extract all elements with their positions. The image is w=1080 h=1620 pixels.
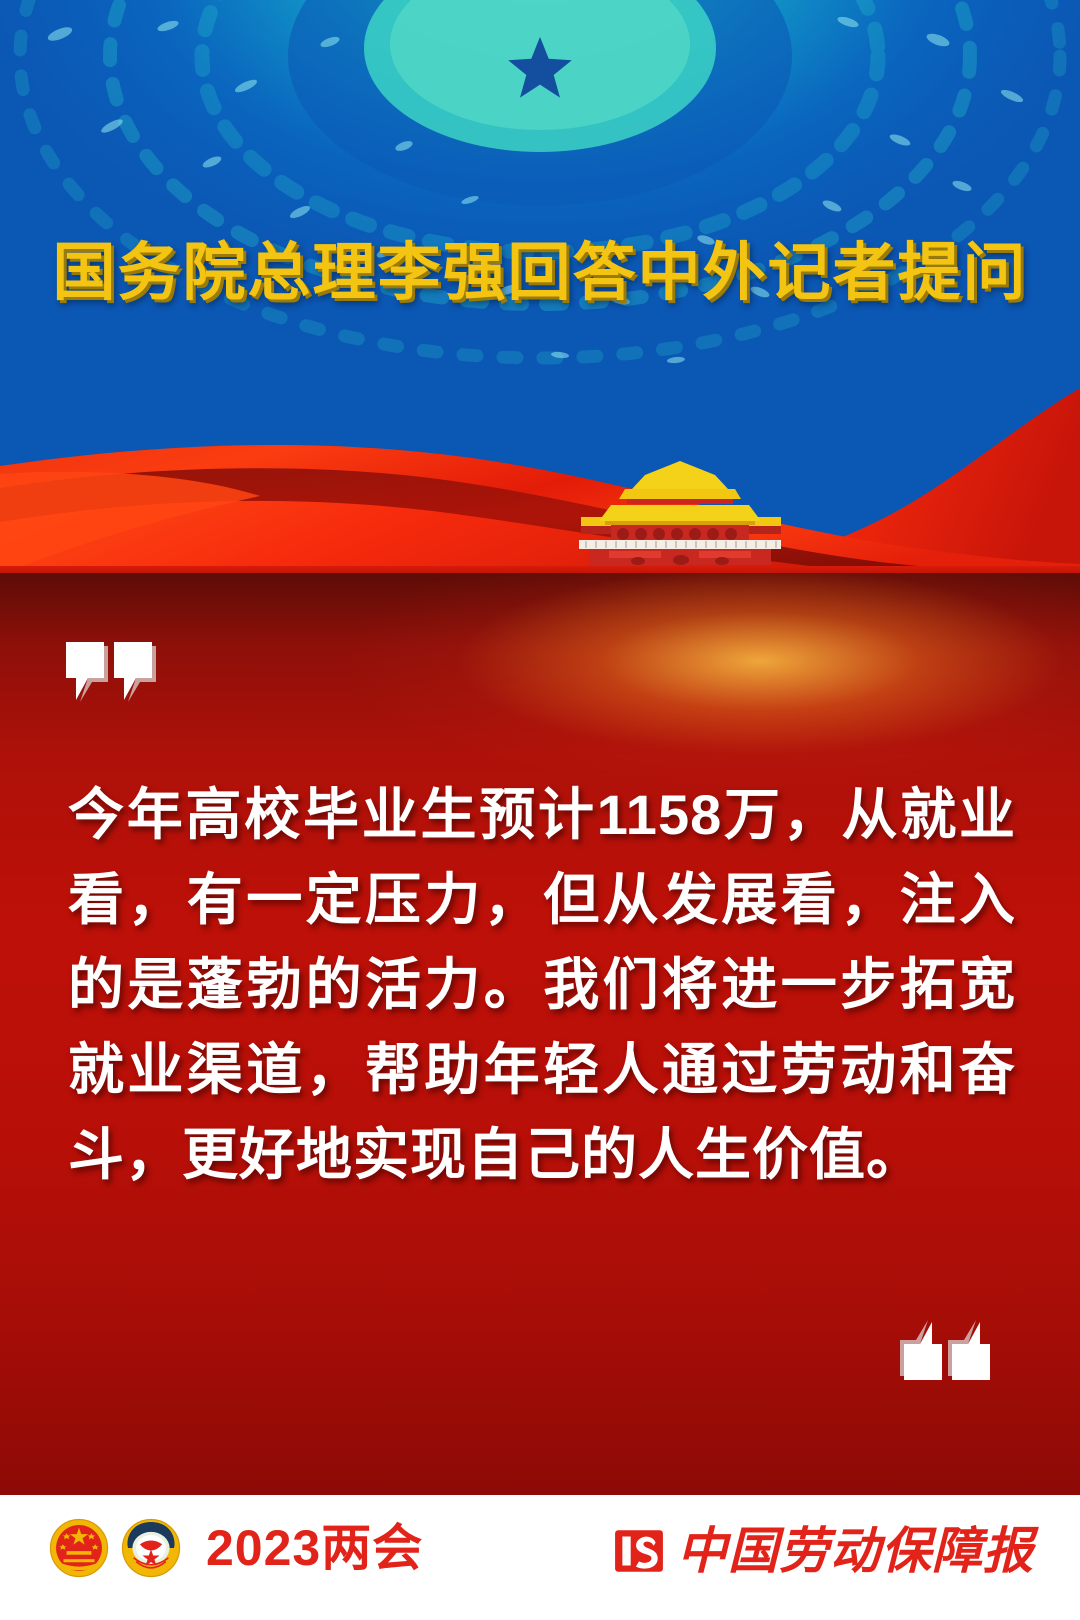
quote-body-text: 今年高校毕业生预计1158万，从就业看，有一定压力，但从发展看，注入的是蓬勃的活… [68, 772, 1016, 1198]
national-emblem-of-china-icon [48, 1517, 110, 1579]
footer-left-group: 2023两会 [48, 1517, 423, 1579]
close-quote-mark-icon [898, 1318, 994, 1384]
open-quote-mark-icon [62, 638, 158, 704]
poster-root: 国务院总理李强回答中外记者提问 [0, 0, 1080, 1620]
footer-bar: 2023两会 中国劳动保障报 [0, 1495, 1080, 1620]
tiananmen-gate-illustration [565, 455, 795, 565]
five-pointed-star-icon [503, 31, 577, 105]
footer-right-group: 中国劳动保障报 [613, 1525, 1034, 1577]
cppcc-emblem-icon [120, 1517, 182, 1579]
red-ribbon-decoration [0, 370, 1080, 585]
event-label: 2023两会 [206, 1523, 423, 1573]
ls-logo-icon [613, 1525, 665, 1577]
publisher-name: 中国劳动保障报 [677, 1526, 1034, 1576]
page-title: 国务院总理李强回答中外记者提问 [0, 222, 1080, 313]
